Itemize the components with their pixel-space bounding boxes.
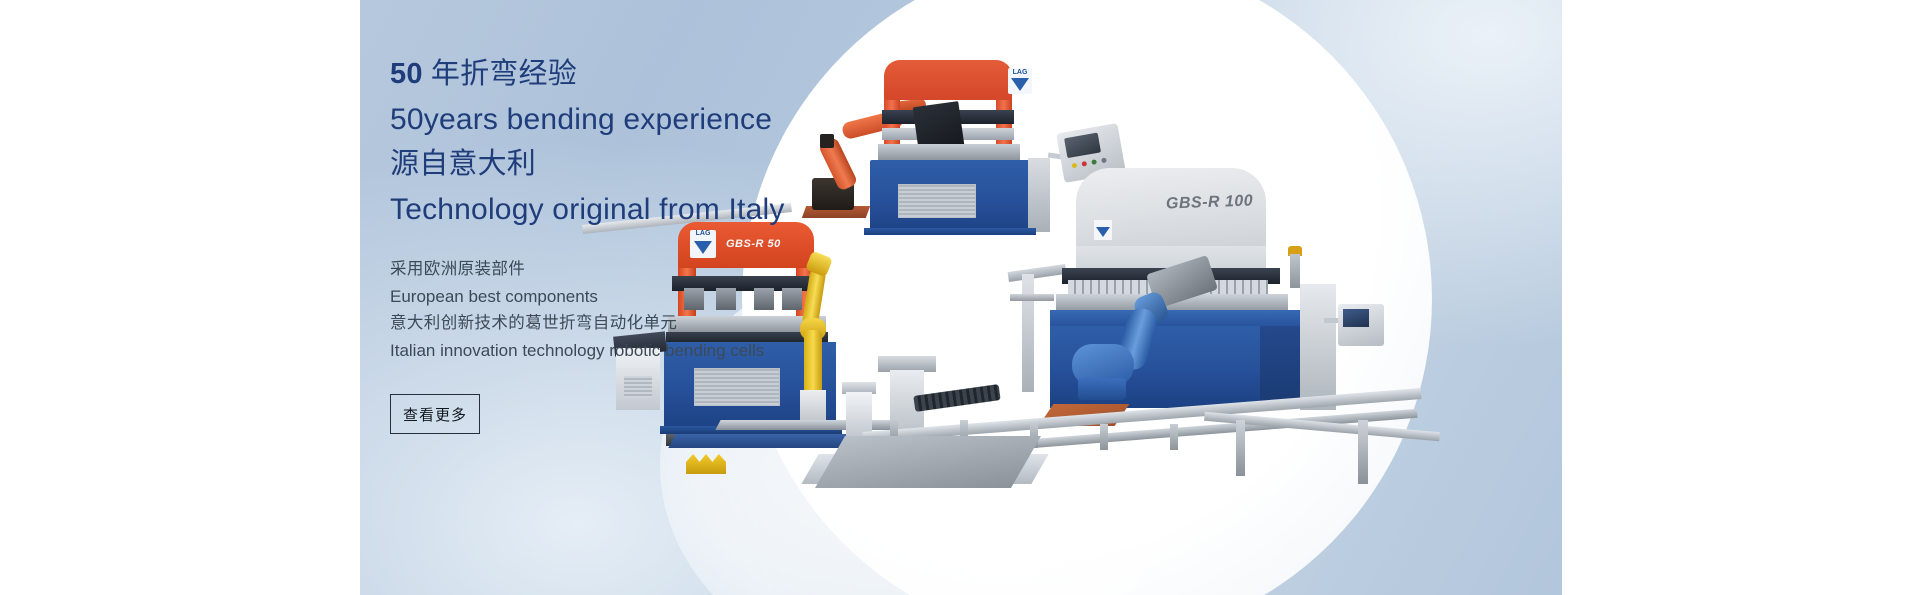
support-arm-lower	[1010, 294, 1054, 301]
outfeed-stand-left	[1236, 420, 1245, 476]
control-panel-screen	[1064, 133, 1101, 159]
press-crown: LAG	[884, 60, 1012, 100]
subcopy-line-3: 意大利创新技术的葛世折弯自动化单元	[390, 310, 860, 337]
lag-logo-icon: LAG	[1008, 68, 1032, 94]
machine-right-column	[1300, 284, 1336, 410]
press-table	[878, 144, 1020, 160]
machine-model-label: GBS-R 100	[1166, 192, 1254, 213]
signal-tower	[1290, 254, 1300, 288]
panel-button-grey	[1101, 157, 1107, 163]
headline-line-3: 源自意大利	[390, 142, 860, 187]
headline-line-2: 50years bending experience	[390, 97, 860, 142]
headline-line-1-text: 年折弯经验	[423, 58, 577, 90]
panel-button-green	[1091, 159, 1097, 165]
headline-line-4: Technology original from Italy	[390, 187, 860, 232]
machine-bending-cell-right: GBS-R 100	[950, 168, 1420, 438]
safety-block	[686, 454, 726, 474]
rail-crossbar-5	[1170, 424, 1178, 450]
banner-subcopy: 采用欧洲原装部件 European best components 意大利创新技…	[390, 256, 860, 364]
subcopy-line-4: Italian innovation technology robotic be…	[390, 337, 860, 364]
panel-button-red	[1081, 161, 1087, 167]
headline-line-1: 50 年折弯经验	[390, 52, 860, 97]
rail-crossbar-4	[1100, 424, 1108, 450]
support-arm-upper	[1008, 264, 1067, 282]
blue-robot-base	[1078, 378, 1126, 400]
hero-banner: LAG LAG GBS-R 50	[360, 0, 1562, 595]
view-more-button[interactable]: 查看更多	[390, 394, 480, 434]
subcopy-line-1: 采用欧洲原装部件	[390, 256, 860, 283]
banner-text-block: 50 年折弯经验 50years bending experience 源自意大…	[390, 52, 860, 434]
floor-plate	[815, 436, 1041, 488]
subcopy-line-2: European best components	[390, 283, 860, 310]
hmi-panel	[1338, 304, 1384, 346]
headline-number: 50	[390, 58, 423, 90]
lag-logo-icon	[1094, 220, 1112, 240]
support-post	[1022, 274, 1034, 392]
hmi-screen	[1343, 309, 1369, 327]
machine-body-side	[1260, 326, 1300, 408]
outfeed-stand-right	[1358, 420, 1368, 484]
